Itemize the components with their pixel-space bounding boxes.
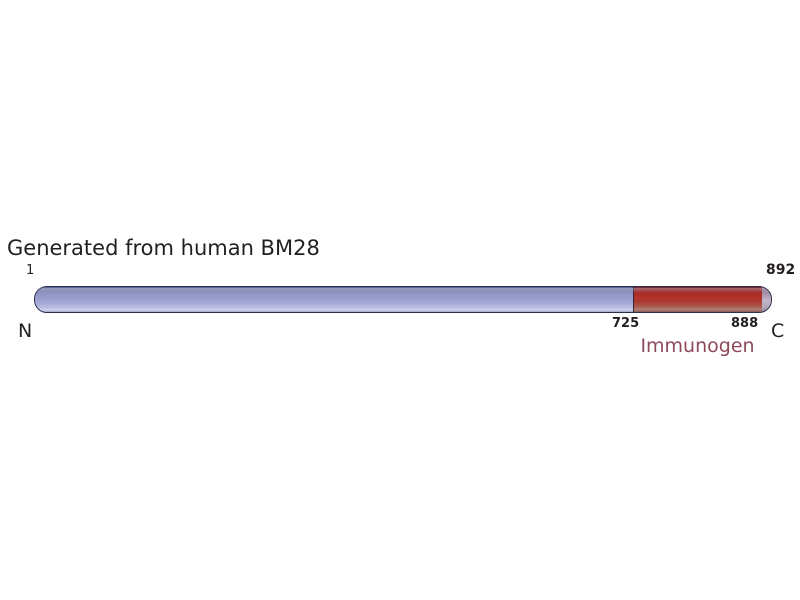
position-label-start: 1 <box>26 263 34 278</box>
diagram-title: Generated from human BM28 <box>7 236 320 260</box>
protein-backbone-segment[interactable] <box>35 287 633 312</box>
immunogen-start-label: 725 <box>612 316 639 331</box>
immunogen-caption: Immunogen <box>620 335 775 357</box>
immunogen-end-label: 888 <box>731 316 758 331</box>
position-label-end: 892 <box>766 262 795 278</box>
immunogen-segment[interactable] <box>633 287 771 312</box>
protein-bar[interactable] <box>34 286 772 313</box>
n-terminus-label: N <box>18 320 32 342</box>
protein-domain-diagram: Generated from human BM28 1 892 725 888 … <box>0 0 800 600</box>
